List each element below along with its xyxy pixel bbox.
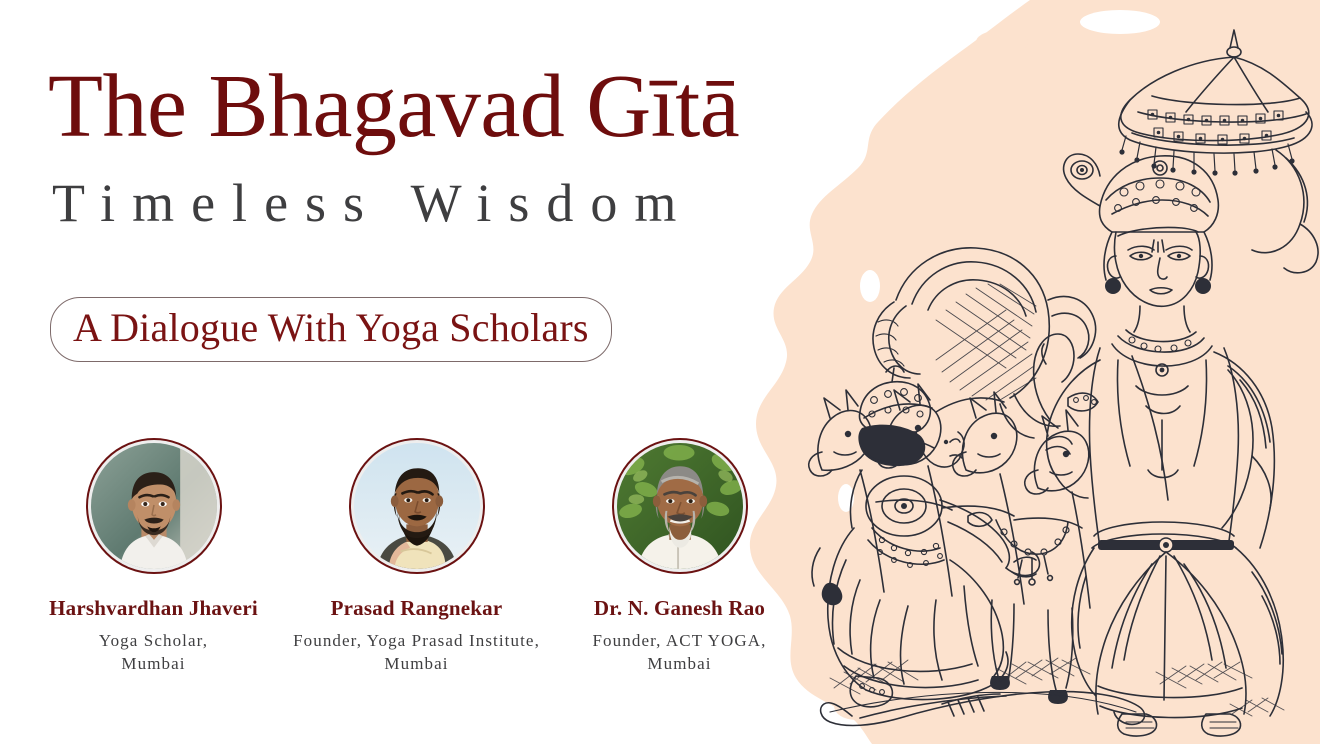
dialogue-badge: A Dialogue With Yoga Scholars	[50, 297, 612, 362]
speaker-card: Harshvardhan Jhaveri Yoga Scholar, Mumba…	[22, 438, 285, 676]
avatar	[86, 438, 222, 574]
page-title: The Bhagavad Gītā	[48, 62, 739, 152]
speaker-role: Founder, Yoga Prasad Institute, Mumbai	[293, 630, 540, 676]
poster-content: The Bhagavad Gītā Timeless Wisdom A Dial…	[0, 0, 830, 744]
portrait-harshvardhan-jhaveri	[91, 443, 217, 569]
speaker-list: Harshvardhan Jhaveri Yoga Scholar, Mumba…	[22, 438, 812, 676]
krishna-arjuna-chariot-illustration	[800, 0, 1320, 744]
avatar	[349, 438, 485, 574]
speaker-name: Harshvardhan Jhaveri	[49, 596, 258, 621]
speaker-role: Yoga Scholar, Mumbai	[99, 630, 208, 676]
speaker-card: Dr. N. Ganesh Rao Founder, ACT YOGA, Mum…	[548, 438, 811, 676]
speaker-card: Prasad Rangnekar Founder, Yoga Prasad In…	[285, 438, 548, 676]
dialogue-badge-label: A Dialogue With Yoga Scholars	[73, 306, 589, 349]
speaker-name: Prasad Rangnekar	[331, 596, 503, 621]
avatar	[612, 438, 748, 574]
speaker-role: Founder, ACT YOGA, Mumbai	[592, 630, 766, 676]
portrait-dr-n-ganesh-rao	[617, 443, 743, 569]
portrait-prasad-rangnekar	[354, 443, 480, 569]
page-subtitle: Timeless Wisdom	[52, 176, 693, 230]
speaker-name: Dr. N. Ganesh Rao	[594, 596, 765, 621]
poster-canvas: The Bhagavad Gītā Timeless Wisdom A Dial…	[0, 0, 1320, 744]
